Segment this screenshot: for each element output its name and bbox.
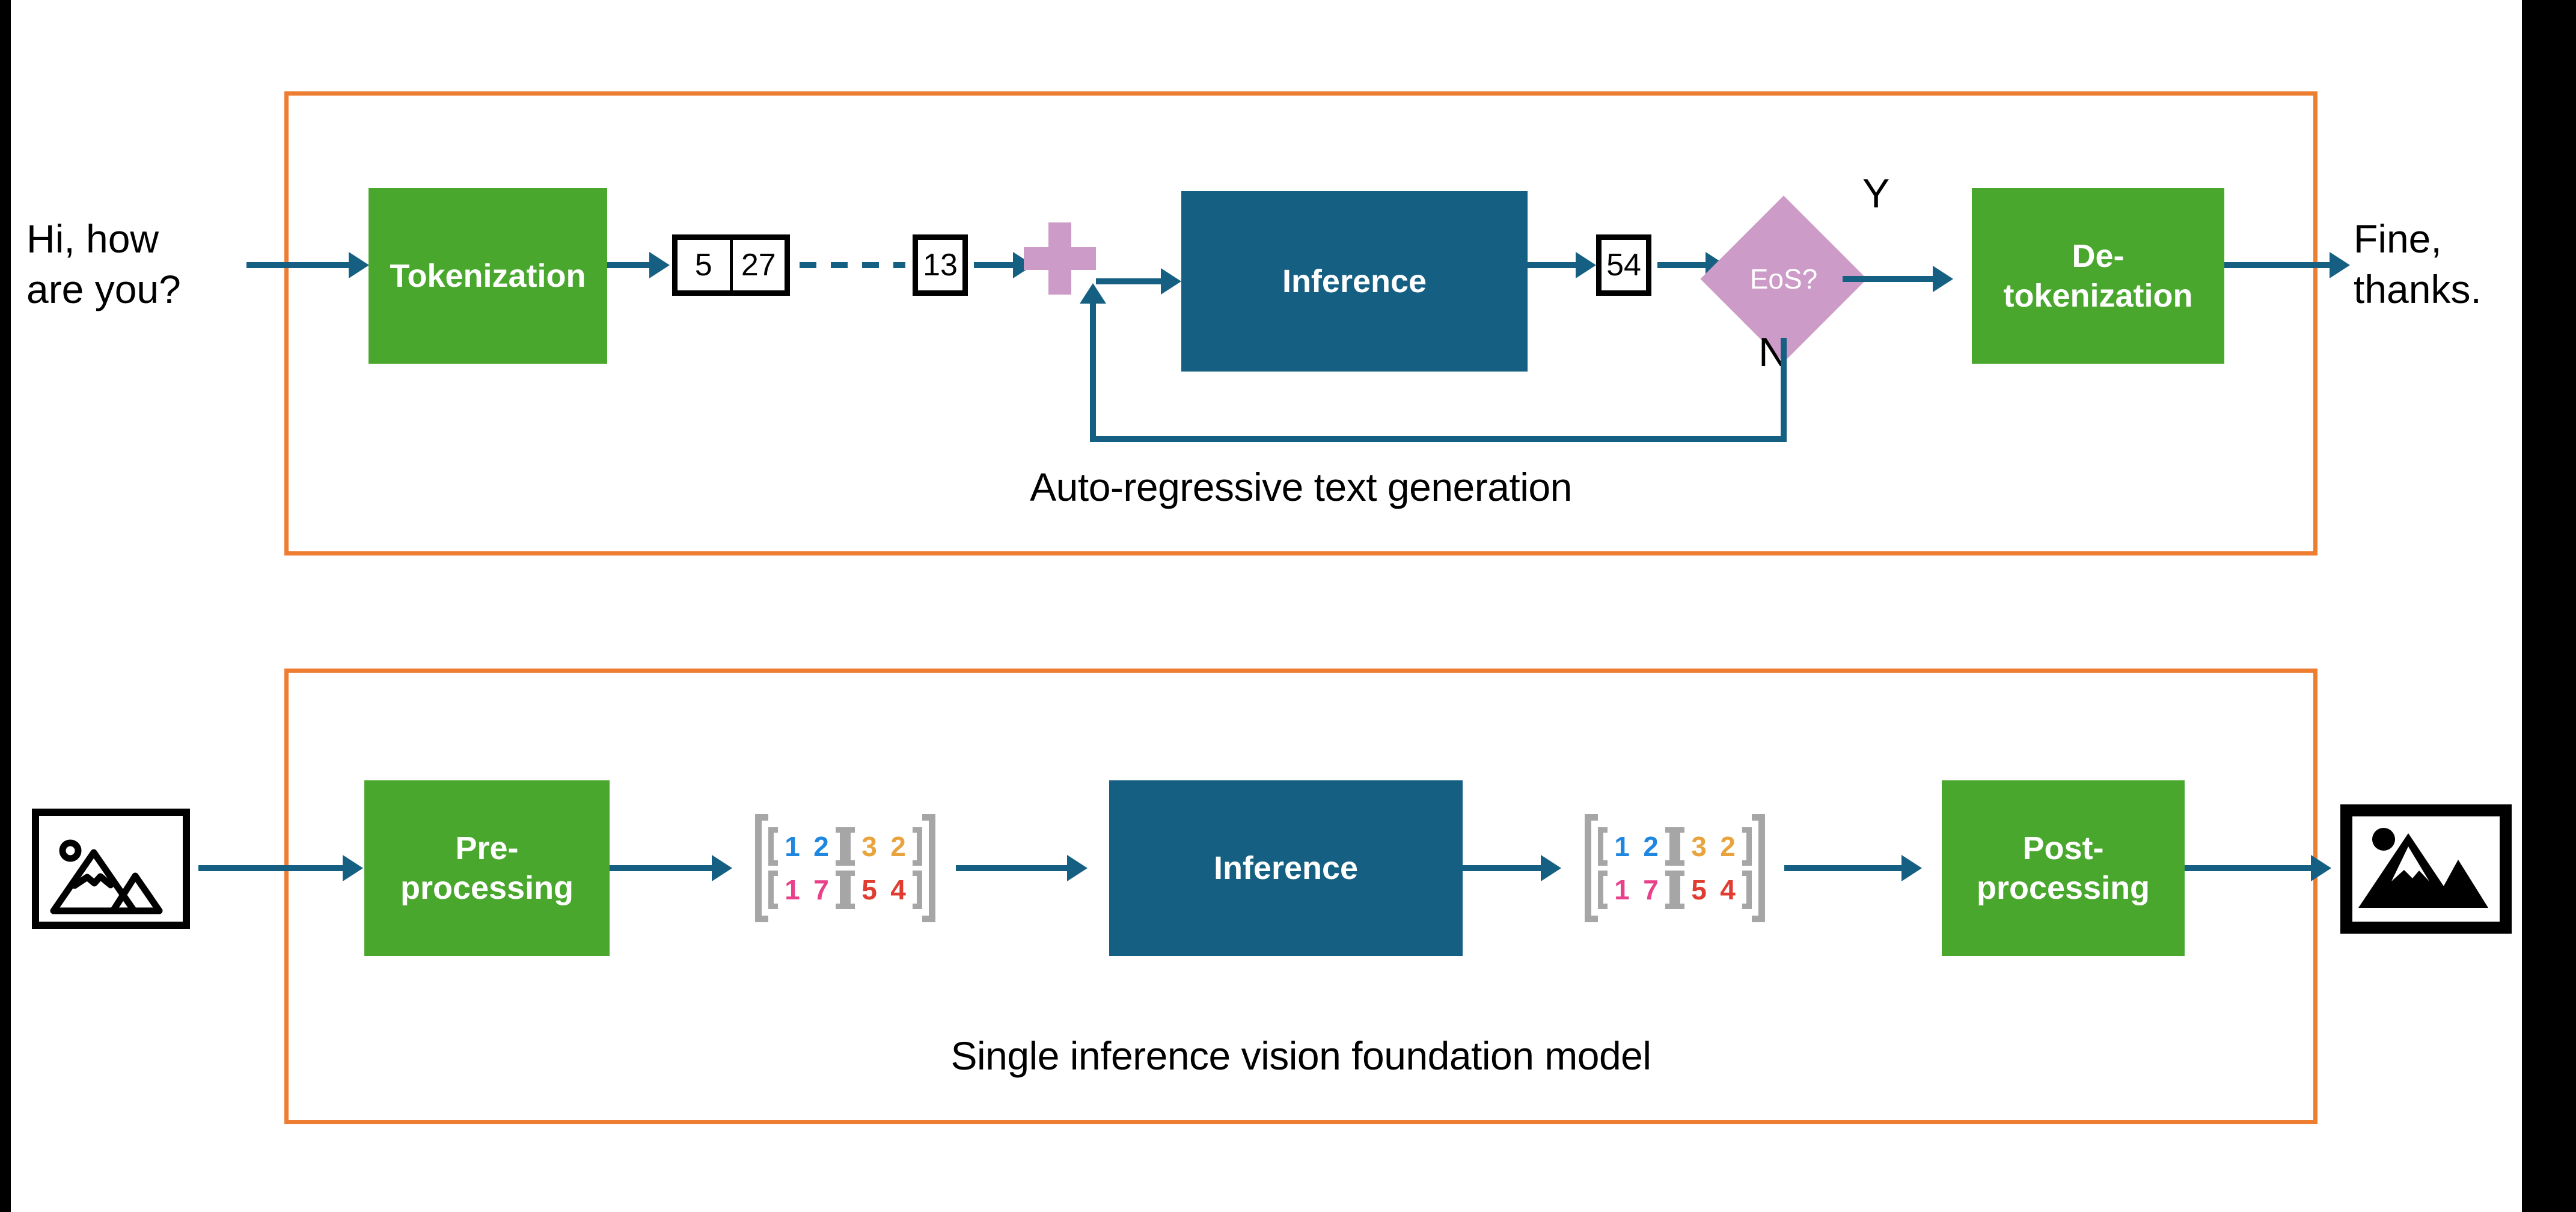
feedback-loop-segment-down — [1781, 338, 1787, 442]
arrow-eos-yes-to-detokenization — [1843, 276, 1933, 282]
tensor-inner-group-1: 1 2 1 7 — [1598, 825, 1675, 911]
arrow-tokenization-to-tokens — [607, 262, 649, 268]
tensor-row-2: 5 4 — [1675, 868, 1752, 911]
token-cell-2: 27 — [730, 240, 785, 290]
tensor-value: 2 — [1713, 830, 1742, 863]
preprocessing-box[interactable]: Pre- processing — [364, 780, 610, 956]
caption-auto-regressive: Auto-regressive text generation — [284, 464, 2317, 510]
inner-bracket-left — [1675, 871, 1684, 909]
input-prompt-text: Hi, how are you? — [26, 213, 273, 314]
inner-bracket-right — [836, 871, 845, 909]
arrow-postprocessing-to-output-image — [2185, 865, 2311, 871]
arrow-tensor-to-inference — [956, 865, 1067, 871]
inner-bracket-right — [1665, 827, 1675, 866]
image-outline-icon-svg — [32, 809, 190, 929]
branch-label-yes: Y — [1862, 170, 1889, 217]
arrow-head-inference-to-token54 — [1576, 252, 1596, 278]
inner-bracket-right — [1742, 871, 1752, 909]
arrow-head-plus-to-inference — [1161, 268, 1181, 295]
arrow-head-output-tensor-to-postprocessing — [1901, 855, 1922, 881]
tensor-inner-group-2: 3 2 5 4 — [1675, 825, 1752, 911]
tensor-row-1: 3 2 — [1675, 825, 1752, 868]
tensor-value: 1 — [778, 874, 807, 906]
inner-bracket-left — [1598, 827, 1608, 866]
image-filled-icon-svg — [2340, 804, 2512, 934]
tensor-value: 7 — [1636, 874, 1665, 906]
tensor-row-2: 1 7 — [768, 868, 845, 911]
plus-vertical-bar — [1048, 222, 1071, 295]
inner-bracket-right — [836, 827, 845, 866]
inner-bracket-left — [845, 871, 855, 909]
left-black-border — [0, 0, 11, 1212]
tensor-row-1: 1 2 — [768, 825, 845, 868]
arrow-output-tensor-to-postprocessing — [1784, 865, 1901, 871]
tensor-value: 2 — [884, 830, 913, 863]
arrow-head-input-to-tokenization — [349, 252, 369, 278]
arrow-head-image-to-preprocessing — [343, 855, 363, 881]
feedback-loop-segment-left — [1090, 436, 1784, 442]
token-pair-box: 5 27 — [672, 234, 790, 296]
arrow-head-postprocessing-to-output-image — [2311, 855, 2331, 881]
inner-bracket-right — [1665, 871, 1675, 909]
tensor-row-2: 5 4 — [845, 868, 922, 911]
postprocessing-box[interactable]: Post- processing — [1942, 780, 2185, 956]
arrow-detokenization-to-output — [2224, 262, 2330, 268]
arrow-token54-to-eos — [1657, 262, 1706, 268]
outer-bracket-left — [755, 814, 768, 922]
tensor-value: 3 — [1684, 830, 1713, 863]
arrow-head-detokenization-to-output — [2330, 252, 2350, 278]
inner-bracket-left — [845, 827, 855, 866]
arrow-inference-to-output-tensor — [1463, 865, 1541, 871]
image-outline-icon — [32, 809, 190, 932]
tokenization-box[interactable]: Tokenization — [369, 188, 607, 364]
inner-bracket-right — [913, 827, 922, 866]
input-tensor: 1 2 1 7 3 2 5 4 — [755, 814, 935, 922]
tensor-row-1: 1 2 — [1598, 825, 1675, 868]
arrow-head-preprocessing-to-tensor — [712, 855, 732, 881]
inner-bracket-left — [768, 871, 778, 909]
token-cell-13: 13 — [913, 234, 968, 296]
tensor-value: 5 — [855, 874, 884, 906]
inner-bracket-right — [913, 871, 922, 909]
arrow-input-to-tokenization — [246, 262, 349, 268]
output-response-text: Fine, thanks. — [2354, 213, 2534, 314]
arrow-head-inference-to-output-tensor — [1541, 855, 1561, 881]
tensor-value: 4 — [884, 874, 913, 906]
arrow-head-tensor-to-inference — [1067, 855, 1088, 881]
caption-vision-foundation-model: Single inference vision foundation model — [284, 1033, 2317, 1079]
inner-bracket-left — [1598, 871, 1608, 909]
tensor-value: 4 — [1713, 874, 1742, 906]
tensor-inner-group-1: 1 2 1 7 — [768, 825, 845, 911]
tensor-value: 3 — [855, 830, 884, 863]
tensor-row-1: 3 2 — [845, 825, 922, 868]
right-black-border — [2522, 0, 2576, 1212]
tensor-value: 2 — [807, 830, 836, 863]
inner-bracket-left — [1675, 827, 1684, 866]
arrow-head-feedback-loop-to-plus — [1080, 283, 1106, 304]
token-cell-1: 5 — [678, 240, 730, 290]
token-ellipsis-dashed-connector — [800, 262, 905, 268]
outer-bracket-right — [922, 814, 935, 922]
arrow-inference-to-token54 — [1528, 262, 1576, 268]
token-cell-54: 54 — [1596, 234, 1651, 296]
tensor-value: 7 — [807, 874, 836, 906]
tensor-value: 1 — [1608, 874, 1636, 906]
outer-bracket-right — [1752, 814, 1765, 922]
tensor-row-2: 1 7 — [1598, 868, 1675, 911]
tensor-value: 2 — [1636, 830, 1665, 863]
arrow-preprocessing-to-tensor — [610, 865, 712, 871]
output-tensor: 1 2 1 7 3 2 5 4 — [1585, 814, 1765, 922]
inner-bracket-left — [768, 827, 778, 866]
tensor-value: 5 — [1684, 874, 1713, 906]
inference-box-text[interactable]: Inference — [1181, 191, 1528, 372]
arrow-token13-to-plus — [974, 262, 1013, 268]
tensor-value: 1 — [1608, 830, 1636, 863]
arrow-head-tokenization-to-tokens — [649, 252, 670, 278]
tensor-inner-group-2: 3 2 5 4 — [845, 825, 922, 911]
inference-box-vision[interactable]: Inference — [1109, 780, 1463, 956]
image-filled-icon — [2340, 804, 2512, 937]
tensor-value: 1 — [778, 830, 807, 863]
detokenization-box[interactable]: De- tokenization — [1972, 188, 2224, 364]
feedback-loop-segment-up — [1090, 304, 1096, 439]
inner-bracket-right — [1742, 827, 1752, 866]
outer-bracket-left — [1585, 814, 1598, 922]
arrow-image-to-preprocessing — [198, 865, 343, 871]
arrow-head-eos-yes-to-detokenization — [1933, 266, 1953, 292]
diagram-canvas: Hi, how are you? Tokenization 5 27 13 In… — [0, 0, 2576, 1212]
